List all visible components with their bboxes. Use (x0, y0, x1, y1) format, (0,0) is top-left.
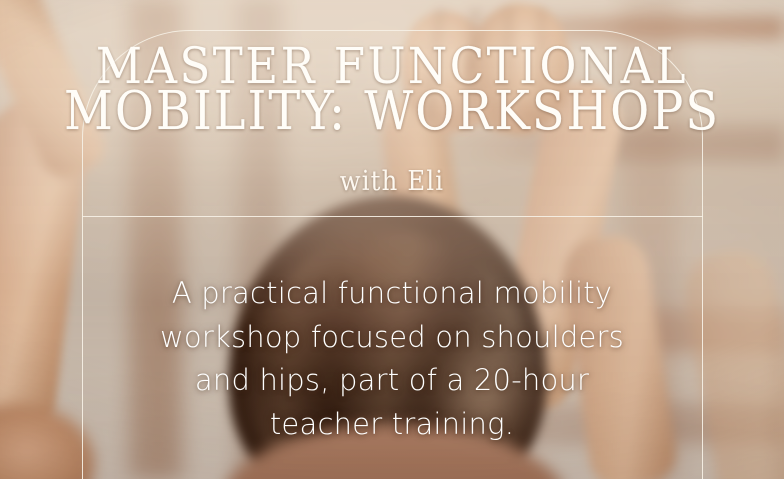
poster-title: MASTER FUNCTIONAL MOBILITY: WORKSHOPS (0, 44, 784, 134)
description-line-1: A practical functional mobility (102, 272, 682, 316)
description-line-3: and hips, part of a 20-hour (102, 359, 682, 403)
presenter-subtitle: with Eli (0, 166, 784, 197)
poster-content: MASTER FUNCTIONAL MOBILITY: WORKSHOPS wi… (0, 0, 784, 479)
poster-description: A practical functional mobility workshop… (102, 272, 682, 446)
promo-poster: MASTER FUNCTIONAL MOBILITY: WORKSHOPS wi… (0, 0, 784, 479)
description-line-4: teacher training. (102, 403, 682, 447)
title-line-2: MOBILITY: WORKSHOPS (0, 89, 784, 134)
description-line-2: workshop focused on shoulders (102, 316, 682, 360)
